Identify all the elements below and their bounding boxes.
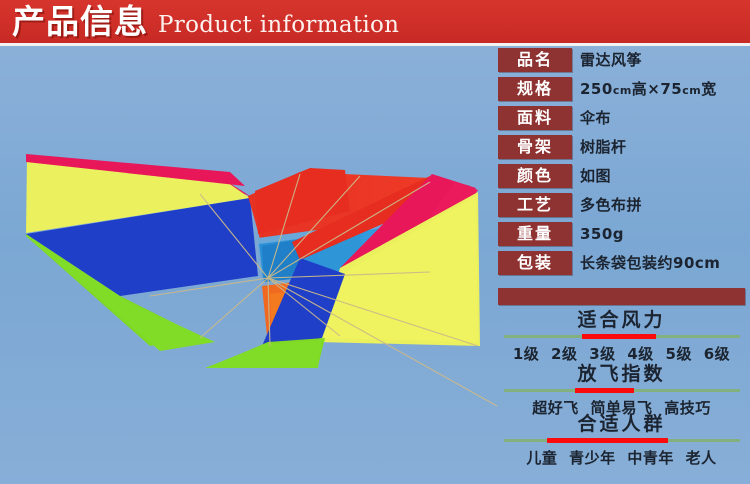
table-row: 品名 雷达风筝 [498, 48, 746, 77]
option-wind-2[interactable]: 2级 [551, 345, 577, 363]
spec-label-packaging: 包装 [498, 251, 572, 275]
spec-label-color: 颜色 [498, 164, 572, 188]
option-wind-6[interactable]: 6级 [704, 345, 730, 363]
table-row: 面料 伞布 [498, 106, 746, 135]
dim-width-unit: cm [682, 84, 701, 97]
spec-label-fabric: 面料 [498, 106, 572, 130]
option-wind-4[interactable]: 4级 [627, 345, 653, 363]
rule-red-highlight [575, 388, 634, 393]
rating-block-suitable-wind-force: 适合风力 1级 2级 3级 4级 5级 6级 [498, 308, 745, 364]
rating-rule-wind [498, 334, 745, 340]
kite-illustration [0, 46, 500, 446]
rating-title-flying-index: 放飞指数 [498, 362, 745, 388]
spec-label-dimensions: 规格 [498, 77, 572, 101]
spec-value-color: 如图 [580, 164, 611, 188]
option-crowd-3[interactable]: 中青年 [627, 449, 674, 467]
dim-width-number: 75 [660, 80, 682, 98]
rating-rule-crowd [498, 438, 745, 444]
specification-table: 品名 雷达风筝 规格 250cm高×75cm宽 面料 伞布 骨架 树脂杆 颜色 … [498, 48, 746, 280]
table-row: 规格 250cm高×75cm宽 [498, 77, 746, 106]
spec-value-product-name: 雷达风筝 [580, 48, 642, 72]
spec-value-packaging: 长条袋包装约90cm [580, 251, 720, 275]
spec-value-weight: 350g [580, 222, 624, 246]
option-wind-5[interactable]: 5级 [666, 345, 692, 363]
page-title-chinese: 产品信息 [12, 2, 148, 42]
rating-options-wind: 1级 2级 3级 4级 5级 6级 [498, 343, 745, 364]
dim-height-number: 250 [580, 80, 613, 98]
rule-red-highlight [582, 334, 656, 339]
spec-label-weight: 重量 [498, 222, 572, 246]
spec-value-dimensions: 250cm高×75cm宽 [580, 77, 717, 101]
rating-title-wind: 适合风力 [498, 308, 745, 334]
spec-value-craft: 多色布拼 [580, 193, 642, 217]
dim-height-unit: cm [613, 84, 632, 97]
option-crowd-4[interactable]: 老人 [686, 449, 717, 467]
rating-block-suitable-crowd: 合适人群 儿童 青少年 中青年 老人 [498, 412, 745, 468]
table-row: 包装 长条袋包装约90cm [498, 251, 746, 280]
table-row: 工艺 多色布拼 [498, 193, 746, 222]
spec-label-craft: 工艺 [498, 193, 572, 217]
spec-label-product-name: 品名 [498, 48, 572, 72]
rule-red-highlight [547, 438, 668, 443]
table-row: 颜色 如图 [498, 164, 746, 193]
spec-label-frame: 骨架 [498, 135, 572, 159]
dim-width-label: 宽 [701, 80, 717, 98]
table-row: 骨架 树脂杆 [498, 135, 746, 164]
option-crowd-2[interactable]: 青少年 [569, 449, 616, 467]
option-wind-1[interactable]: 1级 [513, 345, 539, 363]
dim-separator: 高× [632, 80, 661, 98]
option-wind-3[interactable]: 3级 [589, 345, 615, 363]
spec-value-frame: 树脂杆 [580, 135, 627, 159]
section-divider-bar [498, 288, 745, 305]
rating-options-crowd: 儿童 青少年 中青年 老人 [498, 447, 745, 468]
rating-block-flying-index: 放飞指数 超好飞 简单易飞 高技巧 [498, 362, 745, 418]
page-title-english: Product information [158, 10, 399, 40]
product-information-page: 产品信息 Product information [0, 0, 750, 484]
spec-value-fabric: 伞布 [580, 106, 611, 130]
option-crowd-1[interactable]: 儿童 [526, 449, 557, 467]
page-header-bar: 产品信息 Product information [0, 0, 750, 43]
table-row: 重量 350g [498, 222, 746, 251]
rating-rule-flying-index [498, 388, 745, 394]
photo-bottom-edge [0, 477, 750, 484]
rating-title-crowd: 合适人群 [498, 412, 745, 438]
